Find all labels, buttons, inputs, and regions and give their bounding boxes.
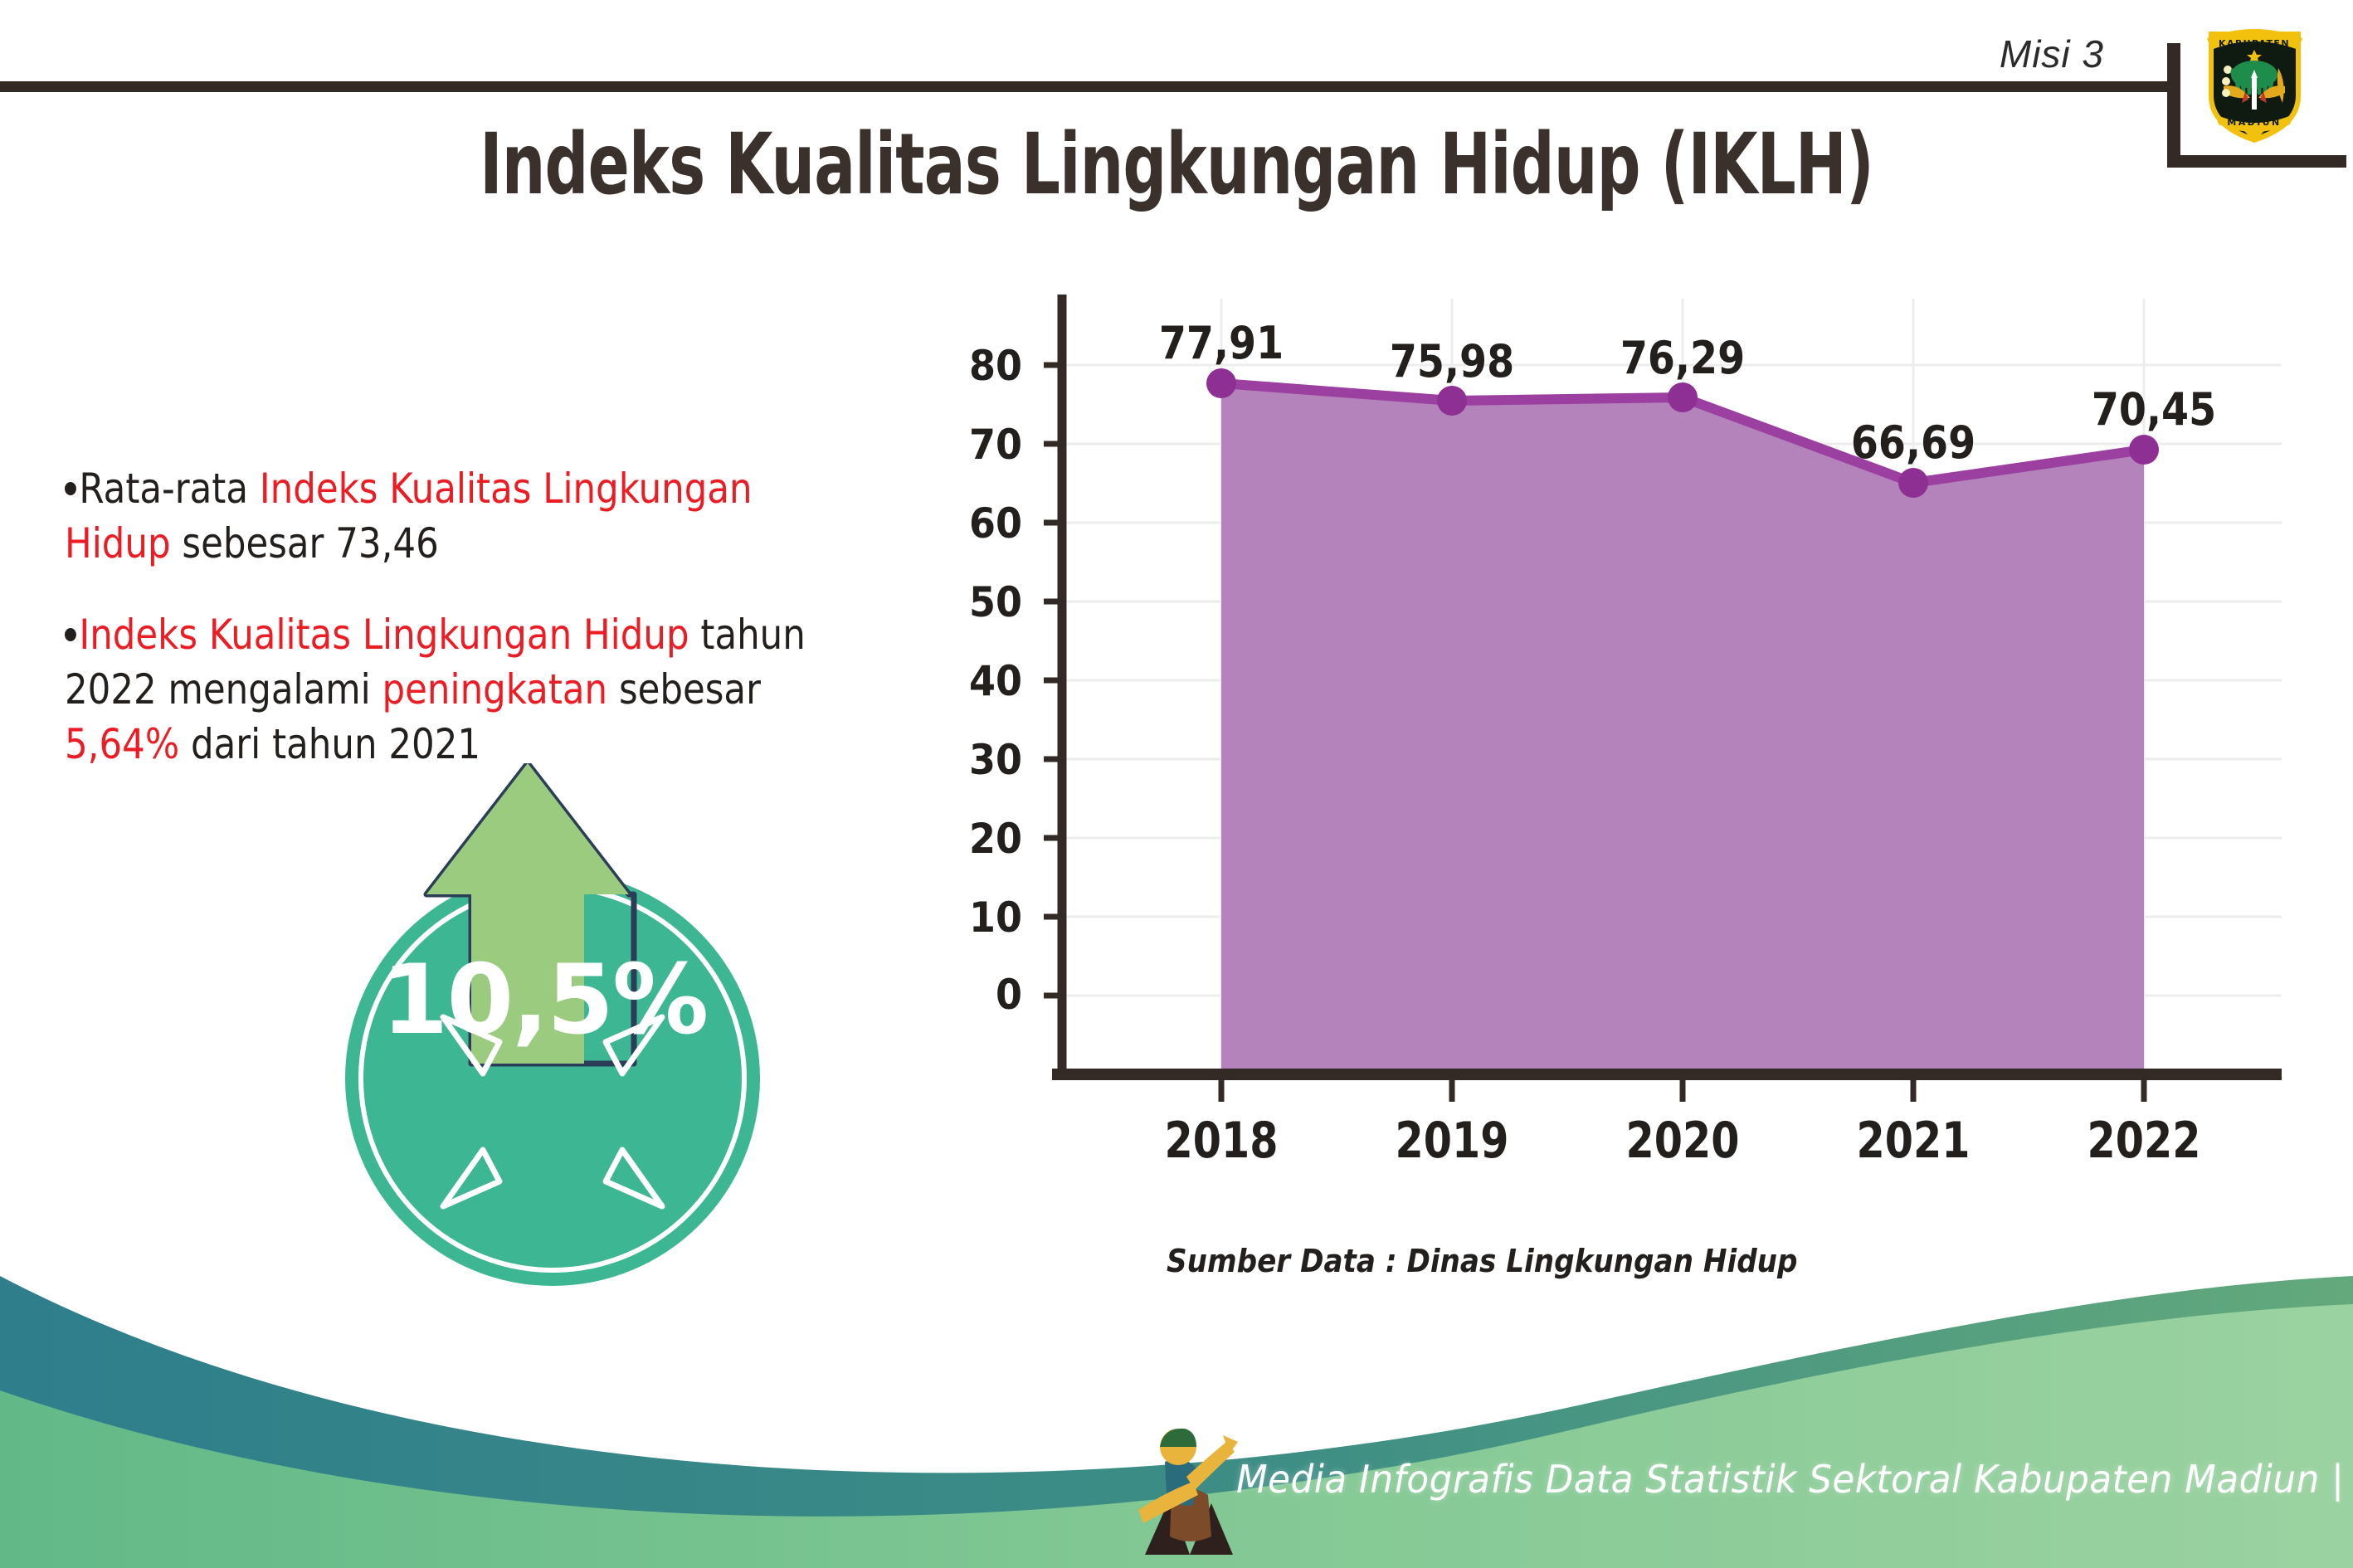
kabupaten-madiun-crest-icon: KABUPATEN MADIUN [2199, 17, 2311, 149]
badge-tick-arrows [345, 871, 760, 1286]
iklh-area-chart: 80 70 60 50 40 30 20 10 0 2018 2019 2020… [954, 282, 2282, 1228]
header-bracket-horizontal [2167, 155, 2346, 168]
bullet-1-part-4: 5,64% [65, 720, 179, 768]
y-tick-label-40: 40 [931, 657, 1022, 705]
x-tick-label-2022: 2022 [2055, 1112, 2232, 1170]
chart-area-fill [1221, 383, 2144, 1074]
triangle-outward-icon [606, 1150, 662, 1206]
svg-text:MADIUN: MADIUN [2227, 117, 2281, 128]
triangle-outward-icon [443, 1150, 499, 1206]
bullet-dot-icon [65, 628, 76, 641]
x-tick-label-2021: 2021 [1824, 1112, 2001, 1170]
bullet-item-average: Rata-rata Indeks Kualitas Lingkungan Hid… [65, 461, 845, 571]
misi-label: Misi 3 [2000, 32, 2104, 76]
chart-marker-2020 [1668, 382, 1698, 412]
bullet-item-increase: Indeks Kualitas Lingkungan Hidup tahun 2… [65, 607, 845, 772]
footer-caption: Media Infografis Data Statistik Sektoral… [1236, 1457, 2344, 1502]
chart-marker-2022 [2129, 435, 2159, 465]
page-title: Indeks Kualitas Lingkungan Hidup (IKLH) [165, 116, 2189, 214]
y-tick-label-50: 50 [931, 578, 1022, 626]
bullet-1-part-0: Indeks Kualitas Lingkungan Hidup [79, 611, 689, 659]
bullet-list: Rata-rata Indeks Kualitas Lingkungan Hid… [65, 461, 961, 808]
svg-text:KABUPATEN: KABUPATEN [2219, 38, 2290, 49]
x-tick-label-2019: 2019 [1363, 1112, 1540, 1170]
increase-badge: 10,5% [329, 763, 760, 1203]
header-divider-rule [0, 81, 2170, 92]
bullet-dot-icon [65, 482, 76, 495]
bullet-1-part-5: dari tahun 2021 [179, 720, 480, 768]
y-tick-label-60: 60 [931, 499, 1022, 548]
data-label-2019: 75,98 [1357, 335, 1547, 387]
x-tick-label-2018: 2018 [1133, 1112, 1309, 1170]
y-tick-label-0: 0 [931, 971, 1022, 1019]
dancer-figure-icon [1135, 1412, 1243, 1561]
bullet-0-part-2: sebesar 73,46 [171, 519, 439, 567]
bullet-0-part-0: Rata-rata [79, 465, 259, 513]
chart-marker-2019 [1437, 386, 1467, 416]
data-label-2020: 76,29 [1588, 332, 1778, 384]
y-tick-label-30: 30 [931, 736, 1022, 784]
x-tick-label-2020: 2020 [1594, 1112, 1771, 1170]
y-tick-label-20: 20 [931, 815, 1022, 863]
y-tick-label-10: 10 [931, 894, 1022, 942]
data-label-2022: 70,45 [2059, 383, 2249, 436]
y-tick-label-70: 70 [931, 421, 1022, 469]
bullet-1-part-2: peningkatan [382, 665, 608, 713]
data-label-2021: 66,69 [1819, 416, 2009, 469]
chart-marker-2018 [1206, 368, 1236, 398]
badge-value: 10,5% [329, 944, 760, 1056]
chart-marker-2021 [1898, 468, 1928, 498]
y-tick-label-80: 80 [931, 342, 1022, 390]
data-label-2018: 77,91 [1127, 317, 1317, 369]
bullet-1-part-3: sebesar [607, 665, 761, 713]
